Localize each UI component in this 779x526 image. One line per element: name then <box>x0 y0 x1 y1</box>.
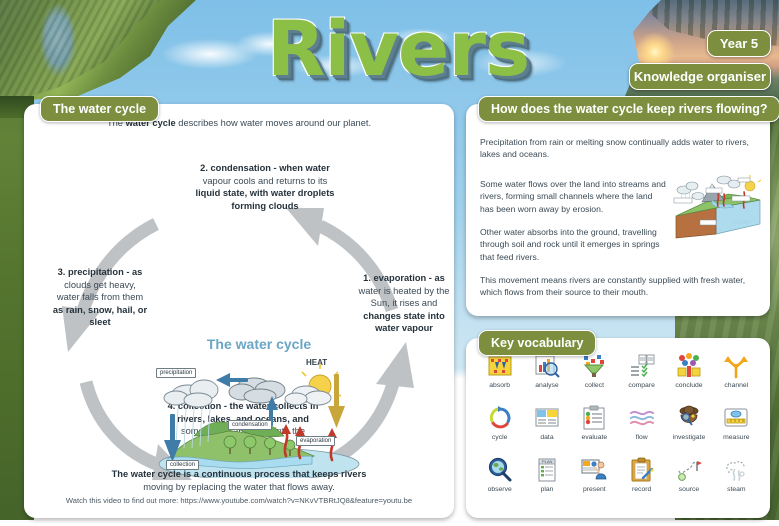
vocab-item-cycle[interactable]: cycle <box>476 404 523 456</box>
vocab-label: data <box>540 434 553 441</box>
panel-rivers-flowing: Precipitation from rain or melting snow … <box>466 104 770 316</box>
water-cycle-svg <box>154 336 364 478</box>
vocab-label: measure <box>723 434 749 441</box>
closing-line1: The water cycle is a continuous process … <box>40 468 438 481</box>
vocab-item-investigate[interactable]: investigate <box>665 404 712 456</box>
vocab-item-observe[interactable]: observe <box>476 456 523 508</box>
vocabulary-grid: absorb analyse <box>476 352 760 508</box>
flow-paragraph-4: This movement means rivers are constantl… <box>480 274 756 299</box>
flow-paragraph-2: Some water flows over the land into stre… <box>480 178 666 215</box>
vocab-label: collect <box>585 382 604 389</box>
vocab-item-present[interactable]: present <box>571 456 618 508</box>
vocab-label: steam <box>727 486 746 493</box>
cross-section-svg: OCEAN <box>672 172 764 242</box>
label-precipitation: precipitation <box>156 368 196 378</box>
vocab-item-measure[interactable]: measure <box>713 404 760 456</box>
steam-icon <box>722 456 750 484</box>
tab-rivers-flowing: How does the water cycle keep rivers flo… <box>478 96 779 122</box>
vocab-label: record <box>632 486 651 493</box>
step-evaporation-line4: changes state into <box>354 310 454 323</box>
vocab-label: source <box>679 486 699 493</box>
flow-paragraph-3: Other water absorbs into the ground, tra… <box>480 226 666 263</box>
collect-icon <box>580 352 608 380</box>
observe-icon <box>486 456 514 484</box>
tab-key-vocabulary: Key vocabulary <box>478 330 596 356</box>
vocab-label: investigate <box>673 434 706 441</box>
vocab-label: flow <box>636 434 648 441</box>
vocab-item-evaluate[interactable]: evaluate <box>571 404 618 456</box>
panel-key-vocabulary: absorb analyse <box>466 338 770 518</box>
step-precipitation-line1: 3. precipitation - as <box>40 266 160 279</box>
vocab-item-source[interactable]: source <box>665 456 712 508</box>
video-url-line[interactable]: Watch this video to find out more: https… <box>40 494 438 507</box>
page-title: Rivers <box>248 6 548 94</box>
step-condensation-line4: forming clouds <box>174 200 356 213</box>
step-condensation-line2: vapour cools and returns to its <box>174 175 356 188</box>
water-cycle-illustration: The water cycle <box>154 336 364 478</box>
flow-paragraph-1: Precipitation from rain or melting snow … <box>480 136 756 161</box>
vocab-item-record[interactable]: record <box>618 456 665 508</box>
panel-water-cycle: The water cycle describes how water move… <box>24 104 454 518</box>
step-precipitation-line5: sleet <box>40 316 160 329</box>
vocab-item-flow[interactable]: flow <box>618 404 665 456</box>
vocab-label: channel <box>724 382 748 389</box>
closing-line2: moving by replacing the water that flows… <box>40 481 438 494</box>
vocab-label: observe <box>488 486 512 493</box>
step-precipitation-line4: as rain, snow, hail, or <box>40 304 160 317</box>
conclude-icon <box>675 352 703 380</box>
poster-root: Rivers Year 5 Knowledge organiser The wa… <box>0 0 779 526</box>
knowledge-organiser-badge: Knowledge organiser <box>629 63 771 90</box>
vocab-item-steam[interactable]: steam <box>713 456 760 508</box>
cycle-icon <box>486 404 514 432</box>
vocab-item-collect[interactable]: collect <box>571 352 618 404</box>
channel-icon <box>722 352 750 380</box>
year-badge: Year 5 <box>707 30 771 57</box>
vocab-item-absorb[interactable]: absorb <box>476 352 523 404</box>
evaluate-icon <box>580 404 608 432</box>
step-precipitation-line2: clouds get heavy, <box>40 279 160 292</box>
present-icon <box>580 456 608 484</box>
record-icon <box>628 456 656 484</box>
vocab-label: present <box>583 486 606 493</box>
vocab-item-plan[interactable]: PLAN plan <box>523 456 570 508</box>
plan-icon: PLAN <box>533 456 561 484</box>
vocab-label: analyse <box>535 382 558 389</box>
water-cycle-cross-section-illustration: OCEAN <box>672 172 764 242</box>
vocab-label: absorb <box>489 382 510 389</box>
vocab-label: compare <box>628 382 654 389</box>
flow-icon <box>628 404 656 432</box>
vocab-item-compare[interactable]: compare <box>618 352 665 404</box>
step-evaporation-line1: 1. evaporation - as <box>354 272 454 285</box>
label-condensation: condensation <box>228 420 272 430</box>
compare-icon <box>628 352 656 380</box>
vocab-label: plan <box>541 486 554 493</box>
measure-icon <box>722 404 750 432</box>
step-condensation-line3: liquid state, with water droplets <box>174 187 356 200</box>
vocab-item-analyse[interactable]: analyse <box>523 352 570 404</box>
tab-water-cycle: The water cycle <box>40 96 159 122</box>
vocab-label: evaluate <box>581 434 607 441</box>
step-condensation-line1: 2. condensation - when water <box>174 162 356 175</box>
data-icon <box>533 404 561 432</box>
step-evaporation-line5: water vapour <box>354 322 454 335</box>
vocab-label: cycle <box>492 434 508 441</box>
investigate-icon <box>675 404 703 432</box>
step-evaporation: 1. evaporation - as water is heated by t… <box>354 272 454 335</box>
label-evaporation: evaporation <box>296 436 335 446</box>
intro-post: describes how water moves around our pla… <box>176 118 371 128</box>
step-precipitation-line3: water falls from them <box>40 291 160 304</box>
label-heat: HEAT <box>306 358 327 367</box>
analyse-icon <box>533 352 561 380</box>
water-cycle-closing: The water cycle is a continuous process … <box>40 468 438 507</box>
step-evaporation-line3: Sun, it rises and <box>354 297 454 310</box>
cross-section-ocean-label: OCEAN <box>732 220 750 226</box>
vocab-item-conclude[interactable]: conclude <box>665 352 712 404</box>
vocab-item-data[interactable]: data <box>523 404 570 456</box>
svg-text:PLAN: PLAN <box>542 459 553 464</box>
vocab-label: conclude <box>675 382 702 389</box>
vocab-item-channel[interactable]: channel <box>713 352 760 404</box>
step-condensation: 2. condensation - when water vapour cool… <box>174 162 356 212</box>
absorb-icon <box>486 352 514 380</box>
step-evaporation-line2: water is heated by the <box>354 285 454 298</box>
step-precipitation: 3. precipitation - as clouds get heavy, … <box>40 266 160 329</box>
source-icon <box>675 456 703 484</box>
